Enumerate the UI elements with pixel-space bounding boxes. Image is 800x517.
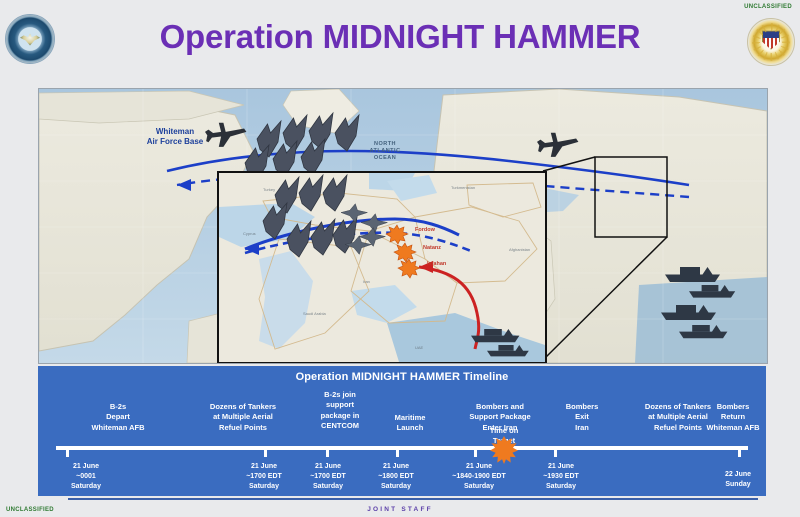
event-line: support (300, 400, 380, 410)
svg-text:Cyprus: Cyprus (243, 231, 256, 236)
event-line: Time on (469, 426, 539, 436)
date-line: 22 June (693, 470, 783, 480)
event-line: Whiteman AFB (678, 423, 788, 433)
event-line: Dozens of Tankers (178, 402, 308, 412)
whiteman-line-1: Whiteman (127, 127, 223, 137)
event-line: Maritime (375, 413, 445, 423)
svg-text:Iran: Iran (363, 279, 370, 284)
day-line: Saturday (516, 482, 606, 492)
timeline-tick (66, 446, 69, 457)
event-line: at Multiple Aerial (178, 412, 308, 422)
timeline-tick (396, 446, 399, 457)
ocean-line-1: NORTH (355, 141, 415, 148)
page-title: Operation MIDNIGHT HAMMER (0, 18, 800, 56)
timeline-date: 21 June ~1930 EDT Saturday (516, 462, 606, 492)
event-line: CENTCOM (300, 421, 380, 431)
operation-map: Whiteman Air Force Base NORTH ATLANTIC O… (38, 88, 768, 364)
day-line: Saturday (41, 482, 131, 492)
time-line: ~1930 EDT (516, 472, 606, 482)
ocean-line-3: OCEAN (355, 155, 415, 162)
svg-text:Afghanistan: Afghanistan (509, 247, 530, 252)
operation-timeline: Operation MIDNIGHT HAMMER Timeline B-2s … (38, 366, 766, 496)
target-label-isfahan: Isfahan (427, 261, 446, 267)
day-line: Sunday (693, 480, 783, 490)
target-label-natanz: Natanz (423, 245, 441, 251)
date-line: 21 June (516, 462, 606, 472)
timeline-title: Operation MIDNIGHT HAMMER Timeline (38, 366, 766, 383)
timeline-event-label: Maritime Launch (375, 413, 445, 434)
timeline-tick (474, 446, 477, 457)
timeline-event-labels: B-2s Depart Whiteman AFB Dozens of Tanke… (38, 388, 766, 442)
event-line: Depart (63, 412, 173, 422)
date-line: 21 June (41, 462, 131, 472)
event-line: Launch (375, 423, 445, 433)
event-line: B-2s (63, 402, 173, 412)
timeline-axis (56, 446, 748, 450)
event-line: B-2s join (300, 390, 380, 400)
svg-text:Turkey: Turkey (263, 187, 275, 192)
timeline-event-label: Bombers Return Whiteman AFB (678, 402, 788, 433)
whiteman-line-2: Air Force Base (127, 137, 223, 147)
theater-inset-map: Turkey Turkmenistan Afghanistan Saudi Ar… (217, 171, 547, 364)
timeline-event-label: Dozens of Tankers at Multiple Aerial Ref… (178, 402, 308, 433)
svg-text:Turkmenistan: Turkmenistan (451, 185, 475, 190)
timeline-tick (738, 446, 741, 457)
timeline-tick (326, 446, 329, 457)
timeline-event-label: Bombers Exit Iran (542, 402, 622, 433)
ocean-line-2: ATLANTIC (355, 148, 415, 155)
event-line: Bombers (678, 402, 788, 412)
event-line: Iran (542, 423, 622, 433)
svg-text:UAE: UAE (415, 345, 424, 350)
event-line: Whiteman AFB (63, 423, 173, 433)
timeline-tick (264, 446, 267, 457)
footer-organization: JOINT STAFF (0, 506, 800, 513)
timeline-date-labels: 21 June ~0001 Saturday 21 June ~1700 EDT… (38, 462, 766, 496)
map-label-whiteman-afb: Whiteman Air Force Base (127, 127, 223, 147)
timeline-date: 21 June ~0001 Saturday (41, 462, 131, 492)
theater-map-graphic: Turkey Turkmenistan Afghanistan Saudi Ar… (219, 173, 545, 362)
event-line: package in (300, 411, 380, 421)
target-label-fordow: Fordow (415, 227, 435, 233)
event-line: Bombers (542, 402, 622, 412)
event-line: Refuel Points (178, 423, 308, 433)
event-line: Return (678, 412, 788, 422)
map-label-north-atlantic-ocean: NORTH ATLANTIC OCEAN (355, 141, 415, 162)
timeline-event-label: B-2s join support package in CENTCOM (300, 390, 380, 431)
footer-divider (68, 498, 758, 500)
timeline-event-label: B-2s Depart Whiteman AFB (63, 402, 173, 433)
briefing-slide: UNCLASSIFIED UNCLASSIFIED Operation MIDN… (0, 0, 800, 517)
svg-text:Saudi Arabia: Saudi Arabia (303, 311, 326, 316)
timeline-date: 22 June Sunday (693, 470, 783, 490)
classification-marking-top: UNCLASSIFIED (744, 4, 792, 10)
time-line: ~0001 (41, 472, 131, 482)
event-line: Exit (542, 412, 622, 422)
timeline-tick (554, 446, 557, 457)
